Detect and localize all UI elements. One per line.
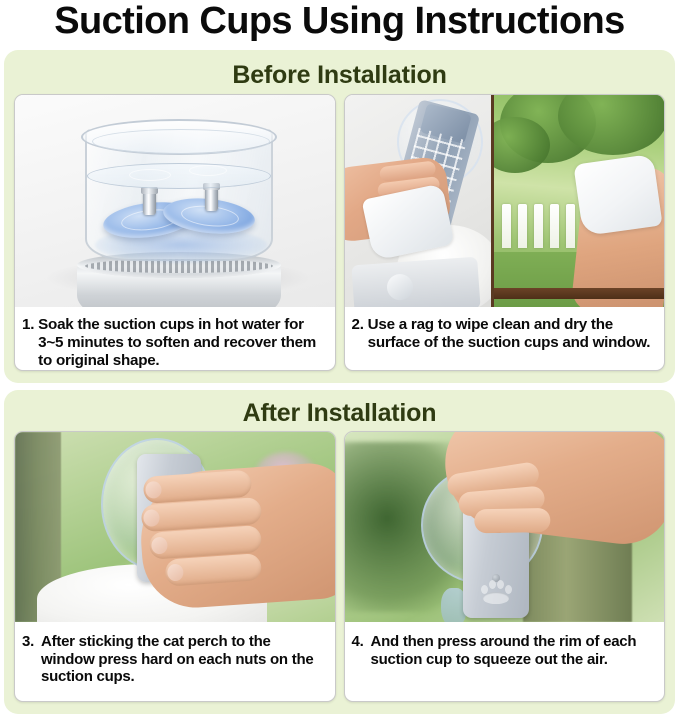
page-title: Suction Cups Using Instructions	[0, 0, 679, 44]
step-caption-1: 1. Soak the suction cups in hot water fo…	[15, 307, 335, 371]
section-before-installation: Before Installation	[4, 50, 675, 383]
fingernail	[166, 563, 183, 581]
paw-toe	[497, 580, 504, 589]
cleaning-rag-right	[573, 153, 662, 235]
step-number-2: 2.	[352, 316, 368, 352]
fence-picket	[502, 204, 511, 248]
step-photo-1	[15, 95, 335, 307]
instruction-infographic: Suction Cups Using Instructions Before I…	[0, 0, 679, 718]
section-heading-before: Before Installation	[4, 50, 675, 90]
paw-print-icon	[479, 580, 513, 604]
step-number-1: 1.	[22, 316, 38, 369]
photo-2-right-wiping-window	[491, 95, 664, 307]
suction-cup-bolt-left	[143, 191, 156, 215]
step-text-2: Use a rag to wipe clean and dry the surf…	[368, 316, 656, 352]
water-ripple	[129, 169, 171, 181]
step-card-1: 1. Soak the suction cups in hot water fo…	[14, 94, 336, 371]
paw-toe	[505, 585, 512, 594]
step-card-2: 2. Use a rag to wipe clean and dry the s…	[344, 94, 666, 371]
water-ripple	[189, 165, 227, 176]
step-card-3: 3. After sticking the cat perch to the w…	[14, 431, 336, 702]
window-frame	[494, 288, 664, 299]
step-number-4: 4.	[352, 633, 371, 668]
bowl-rim-inner	[92, 129, 270, 154]
section-after-installation: After Installation	[4, 390, 675, 714]
step-card-4: 4. And then press around the rim of each…	[344, 431, 666, 702]
finger	[474, 508, 550, 533]
fence-picket	[518, 204, 527, 248]
tray-knob	[386, 273, 414, 301]
step-caption-4: 4. And then press around the rim of each…	[345, 622, 665, 674]
paw-pad	[483, 592, 509, 604]
card-row-before: 1. Soak the suction cups in hot water fo…	[14, 94, 665, 371]
glass-bowl	[81, 117, 277, 287]
step-caption-2: 2. Use a rag to wipe clean and dry the s…	[345, 307, 665, 358]
step-text-1: Soak the suction cups in hot water for 3…	[38, 316, 326, 369]
finger	[164, 553, 262, 587]
bowl-rim	[81, 119, 277, 155]
fingernail	[144, 481, 161, 499]
card-row-after: 3. After sticking the cat perch to the w…	[14, 431, 665, 702]
step-photo-4	[345, 432, 665, 622]
step-text-3: After sticking the cat perch to the wind…	[41, 633, 326, 686]
water-surface	[87, 163, 271, 189]
paw-toe	[489, 580, 496, 589]
step-text-4: And then press around the rim of each su…	[371, 633, 656, 668]
fence-picket	[550, 204, 559, 248]
fence-picket	[534, 204, 543, 248]
perch-tray	[351, 257, 480, 307]
step-photo-2	[345, 95, 665, 307]
step-caption-3: 3. After sticking the cat perch to the w…	[15, 622, 335, 692]
hand-pressing-nut	[136, 461, 334, 611]
photo-2-left-wiping-bracket	[345, 95, 492, 307]
fingernail	[150, 537, 167, 555]
suction-cup-bolt-right	[205, 187, 218, 211]
step-photo-3	[15, 432, 335, 622]
section-heading-after: After Installation	[4, 390, 675, 428]
fence-picket	[566, 204, 575, 248]
step-number-3: 3.	[22, 633, 41, 686]
fingernail	[142, 509, 159, 527]
